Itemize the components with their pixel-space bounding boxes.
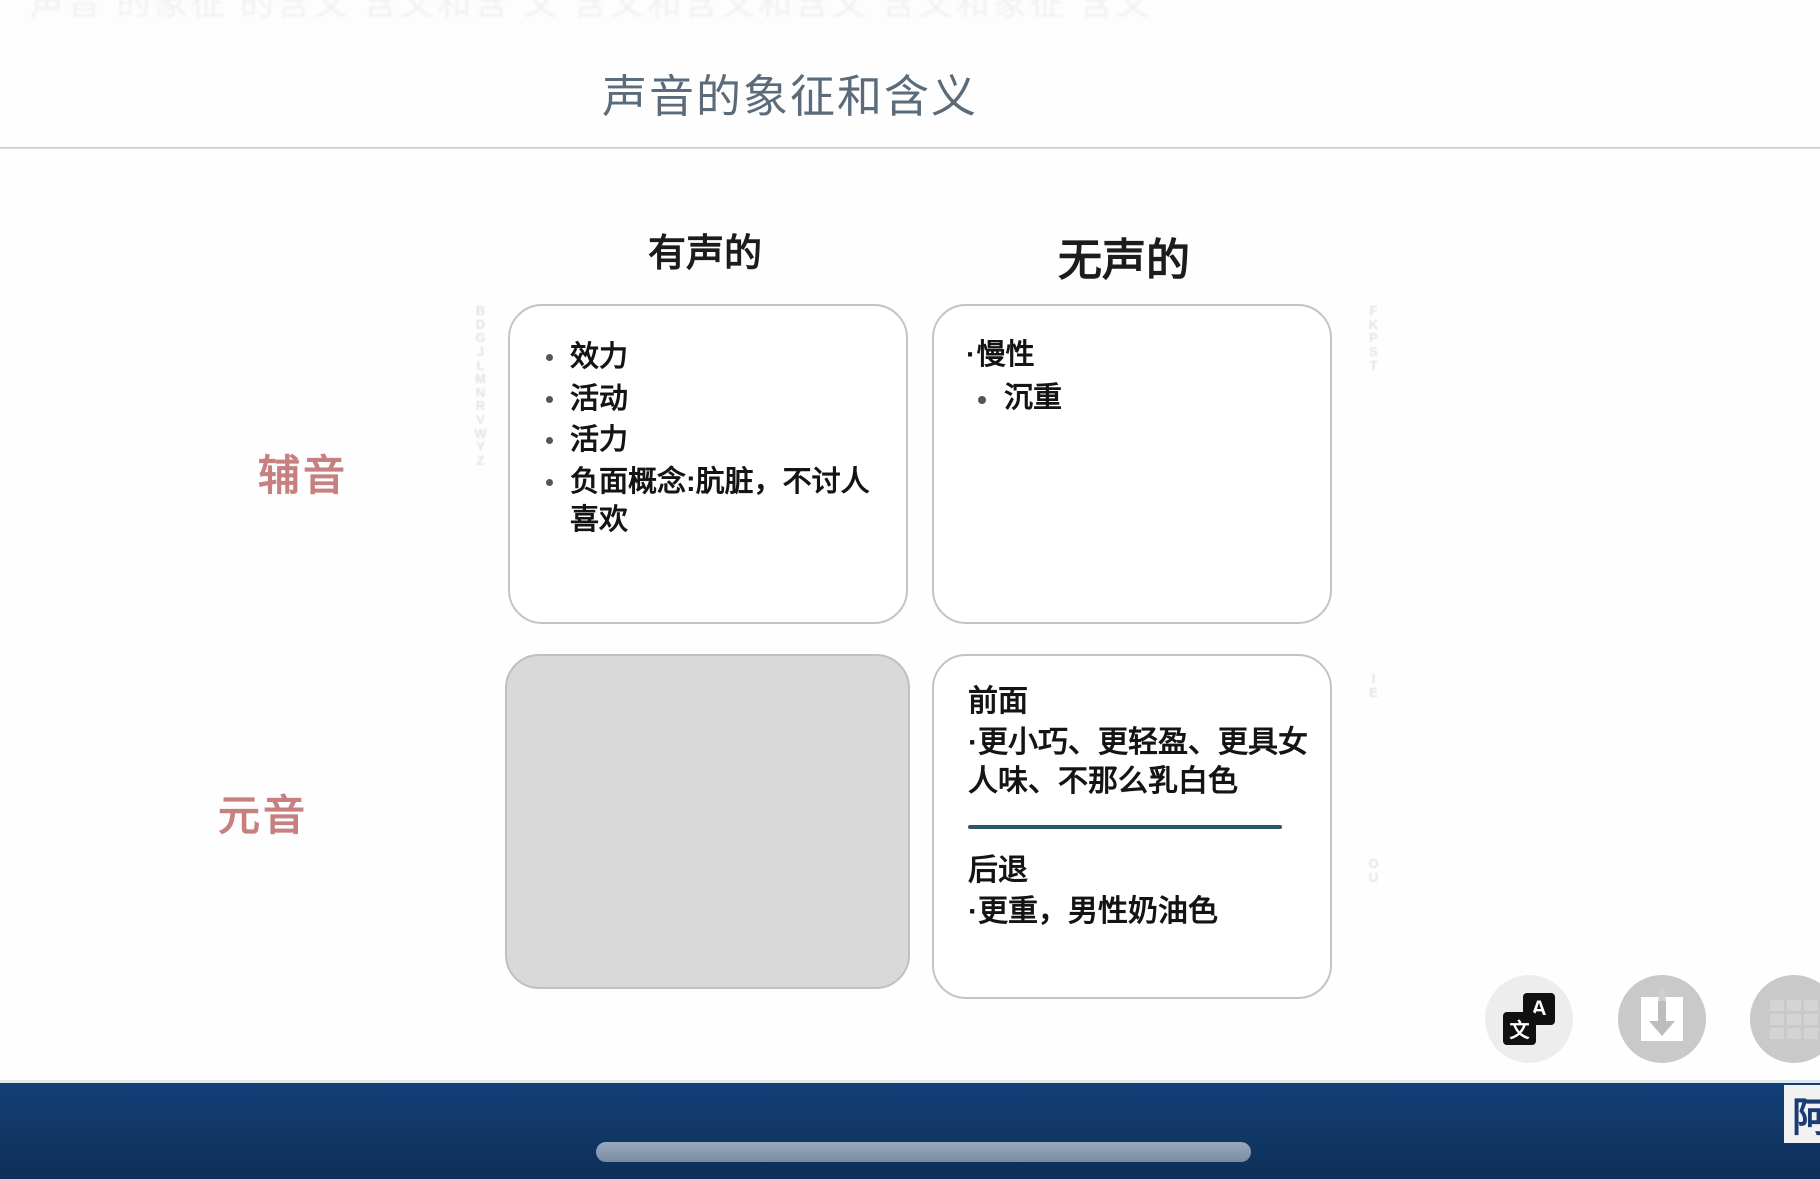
back-description: ·更重，男性奶油色 (968, 892, 1312, 931)
letter: O (1368, 857, 1379, 871)
row-label-vowel: 元音 (218, 782, 308, 843)
horizontal-scrollbar-thumb[interactable] (596, 1142, 1251, 1162)
list-item: 慢性 (966, 336, 1310, 375)
letter: T (1370, 359, 1379, 373)
row-label-consonant: 辅音 (258, 442, 348, 503)
letter: L (477, 359, 486, 373)
cell-voiced-vowel-empty (505, 654, 910, 989)
subheading-back: 后退 (968, 851, 1312, 890)
cell-voiceless-consonant: 慢性 沉重 (932, 304, 1332, 624)
translate-button[interactable]: A 文 (1485, 975, 1573, 1063)
grid-cell (1770, 1000, 1784, 1011)
letter: Y (476, 440, 486, 454)
column-header-voiced: 有声的 (648, 222, 762, 277)
list-item: 效力 (544, 338, 880, 377)
cell-voiced-consonant: 效力 活动 活力 负面概念:肮脏，不讨人喜欢 (508, 304, 908, 624)
list-item: 沉重 (966, 379, 1310, 418)
list-item: 活动 (544, 380, 880, 419)
translate-icon: A 文 (1503, 993, 1555, 1045)
letter: P (1369, 331, 1379, 345)
bullet-list: 效力 活动 活力 负面概念:肮脏，不讨人喜欢 (510, 306, 906, 540)
letter: F (1370, 304, 1379, 318)
letter: U (1369, 871, 1379, 885)
cell-voiceless-vowel: 前面 ·更小巧、更轻盈、更具女人味、不那么乳白色 后退 ·更重，男性奶油色 (932, 654, 1332, 999)
grid-cell (1804, 1014, 1818, 1025)
title-divider (0, 147, 1820, 149)
corner-watermark: 阿 (1784, 1085, 1820, 1143)
grid-cell (1770, 1028, 1784, 1039)
slide-page[interactable]: 声音的象征和含义 有声的 无声的 辅音 元音 B D G J L M N R V… (0, 42, 1820, 1080)
grid-cell (1804, 1028, 1818, 1039)
letter: B (476, 304, 486, 318)
letter-list-front-vowels: I E (1363, 672, 1385, 699)
column-header-voiceless: 无声的 (1058, 224, 1190, 288)
section-divider (968, 825, 1282, 829)
letter: R (476, 399, 486, 413)
grid-cell (1804, 1000, 1818, 1011)
clipped-text: 声音 的象征 的含义 含义和含 义 含义和含义和含义 含义和象征 含义 (30, 0, 1153, 25)
bullet-list: 慢性 沉重 (934, 306, 1330, 417)
letter: J (477, 345, 485, 359)
download-icon-head (1649, 1021, 1675, 1036)
letter-list-back-vowels: O U (1363, 857, 1385, 884)
page-title: 声音的象征和含义 (0, 60, 1580, 125)
letter: E (1369, 686, 1379, 700)
grid-cell (1787, 1028, 1801, 1039)
front-description: ·更小巧、更轻盈、更具女人味、不那么乳白色 (968, 723, 1312, 801)
grid-cell (1787, 1014, 1801, 1025)
download-icon (1641, 997, 1683, 1041)
vowel-front-block: 前面 ·更小巧、更轻盈、更具女人味、不那么乳白色 后退 ·更重，男性奶油色 (934, 656, 1330, 931)
grid-cell (1770, 1014, 1784, 1025)
letter: K (1369, 318, 1379, 332)
clipped-text-strip: 声音 的象征 的含义 含义和含 义 含义和含义和含义 含义和象征 含义 (0, 0, 1820, 42)
letter: W (474, 427, 487, 441)
letter: I (1372, 672, 1377, 686)
document-viewer: 声音 的象征 的含义 含义和含 义 含义和含义和含义 含义和象征 含义 声音的象… (0, 0, 1820, 1179)
letter: S (1369, 345, 1379, 359)
letter: M (475, 372, 487, 386)
letter: D (476, 318, 486, 332)
list-item: 负面概念:肮脏，不讨人喜欢 (544, 463, 880, 540)
translate-icon-han: 文 (1503, 1012, 1536, 1045)
letter-list-voiced-consonants: B D G J L M N R V W Y Z (470, 304, 492, 468)
list-item: 活力 (544, 421, 880, 460)
letter: V (476, 413, 486, 427)
letter: N (476, 386, 486, 400)
letter: Z (477, 454, 486, 468)
slide-content: 声音的象征和含义 有声的 无声的 辅音 元音 B D G J L M N R V… (0, 42, 1820, 1080)
letter-list-voiceless-consonants: F K P S T (1363, 304, 1385, 372)
letter: G (475, 331, 486, 345)
grid-cell (1787, 1000, 1801, 1011)
subheading-front: 前面 (968, 682, 1312, 721)
download-button[interactable] (1618, 975, 1706, 1063)
grid-icon (1770, 1000, 1818, 1039)
